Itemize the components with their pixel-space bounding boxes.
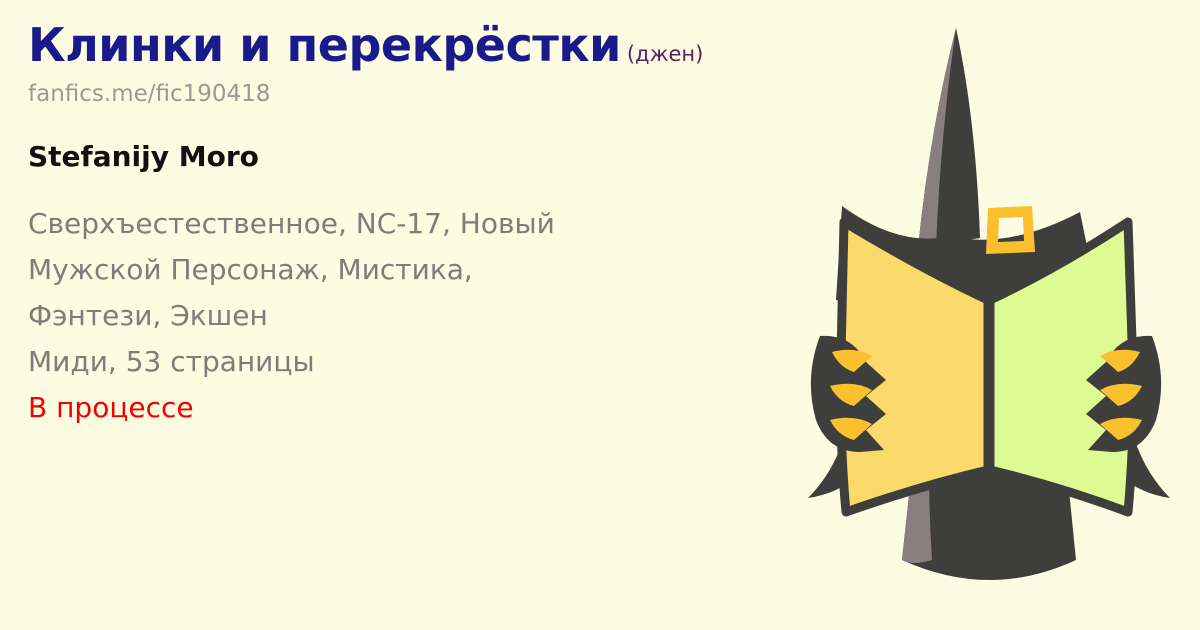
witch-illustration-svg	[780, 0, 1200, 630]
text-column: Клинки и перекрёстки(джен) fanfics.me/fi…	[28, 22, 828, 431]
meta-line-genres-3: Фэнтези, Экшен	[28, 293, 828, 339]
meta-line-genres-1: Сверхъестественное, NC-17, Новый	[28, 201, 828, 247]
meta-line-genres-2: Мужской Персонаж, Мистика,	[28, 247, 828, 293]
meta-line-size-pages: Миди, 53 страницы	[28, 339, 828, 385]
status-badge: В процессе	[28, 385, 828, 431]
page-title: Клинки и перекрёстки	[28, 18, 621, 72]
meta-block: Сверхъестественное, NC-17, Новый Мужской…	[28, 201, 828, 431]
title-line: Клинки и перекрёстки(джен)	[28, 22, 828, 68]
hat-buckle	[986, 206, 1035, 254]
witch-reading-book-illustration	[780, 0, 1200, 630]
author-name[interactable]: Stefanijy Moro	[28, 140, 828, 173]
fanfic-preview-card: Клинки и перекрёстки(джен) fanfics.me/fi…	[0, 0, 1200, 630]
fic-url[interactable]: fanfics.me/fic190418	[28, 81, 828, 107]
fic-category-label: (джен)	[627, 42, 703, 66]
